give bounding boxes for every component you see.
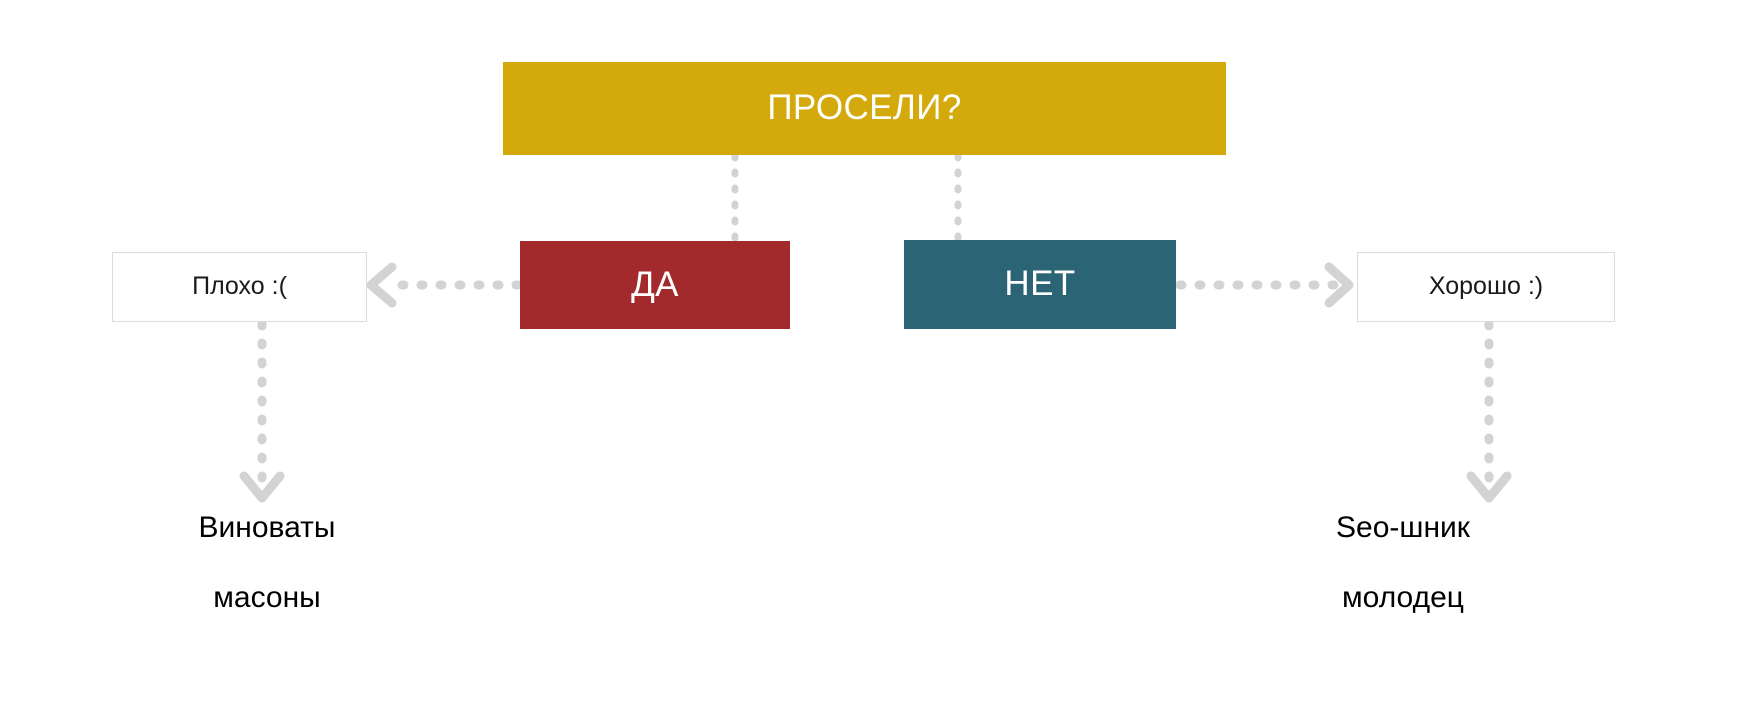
conclusion-text-masons-line2: масоны bbox=[117, 583, 417, 613]
conclusion-text-masons-line1: Виноваты bbox=[199, 511, 336, 544]
diagram-canvas: ПРОСЕЛИ? ДА НЕТ Плохо :( Хорошо :) Винов… bbox=[0, 0, 1749, 726]
arrow-left-icon bbox=[371, 267, 392, 303]
branch-node-yes[interactable]: ДА bbox=[520, 241, 790, 329]
arrow-down-icon bbox=[244, 476, 280, 498]
branch-node-yes-label: ДА bbox=[631, 266, 679, 305]
conclusion-text-masons: Виноваты масоны bbox=[117, 513, 417, 613]
decision-node-proseli-label: ПРОСЕЛИ? bbox=[767, 89, 961, 128]
conclusion-text-seo-line2: молодец bbox=[1253, 583, 1553, 613]
conclusion-text-seo: Seo-шник молодец bbox=[1253, 513, 1553, 613]
branch-node-no-label: НЕТ bbox=[1004, 265, 1075, 304]
arrow-down-icon bbox=[1471, 476, 1507, 498]
outcome-node-good[interactable]: Хорошо :) bbox=[1357, 252, 1615, 322]
connector-da-to-bad bbox=[371, 267, 518, 303]
arrow-right-icon bbox=[1329, 267, 1349, 303]
outcome-node-good-label: Хорошо :) bbox=[1429, 273, 1543, 301]
outcome-node-bad-label: Плохо :( bbox=[192, 273, 287, 301]
connector-bad-to-masons bbox=[244, 324, 280, 498]
decision-node-proseli[interactable]: ПРОСЕЛИ? bbox=[503, 62, 1226, 155]
connector-good-to-seo bbox=[1471, 324, 1507, 498]
connector-net-to-good bbox=[1180, 267, 1349, 303]
outcome-node-bad[interactable]: Плохо :( bbox=[112, 252, 367, 322]
conclusion-text-seo-line1: Seo-шник bbox=[1336, 511, 1470, 544]
branch-node-no[interactable]: НЕТ bbox=[904, 240, 1176, 329]
